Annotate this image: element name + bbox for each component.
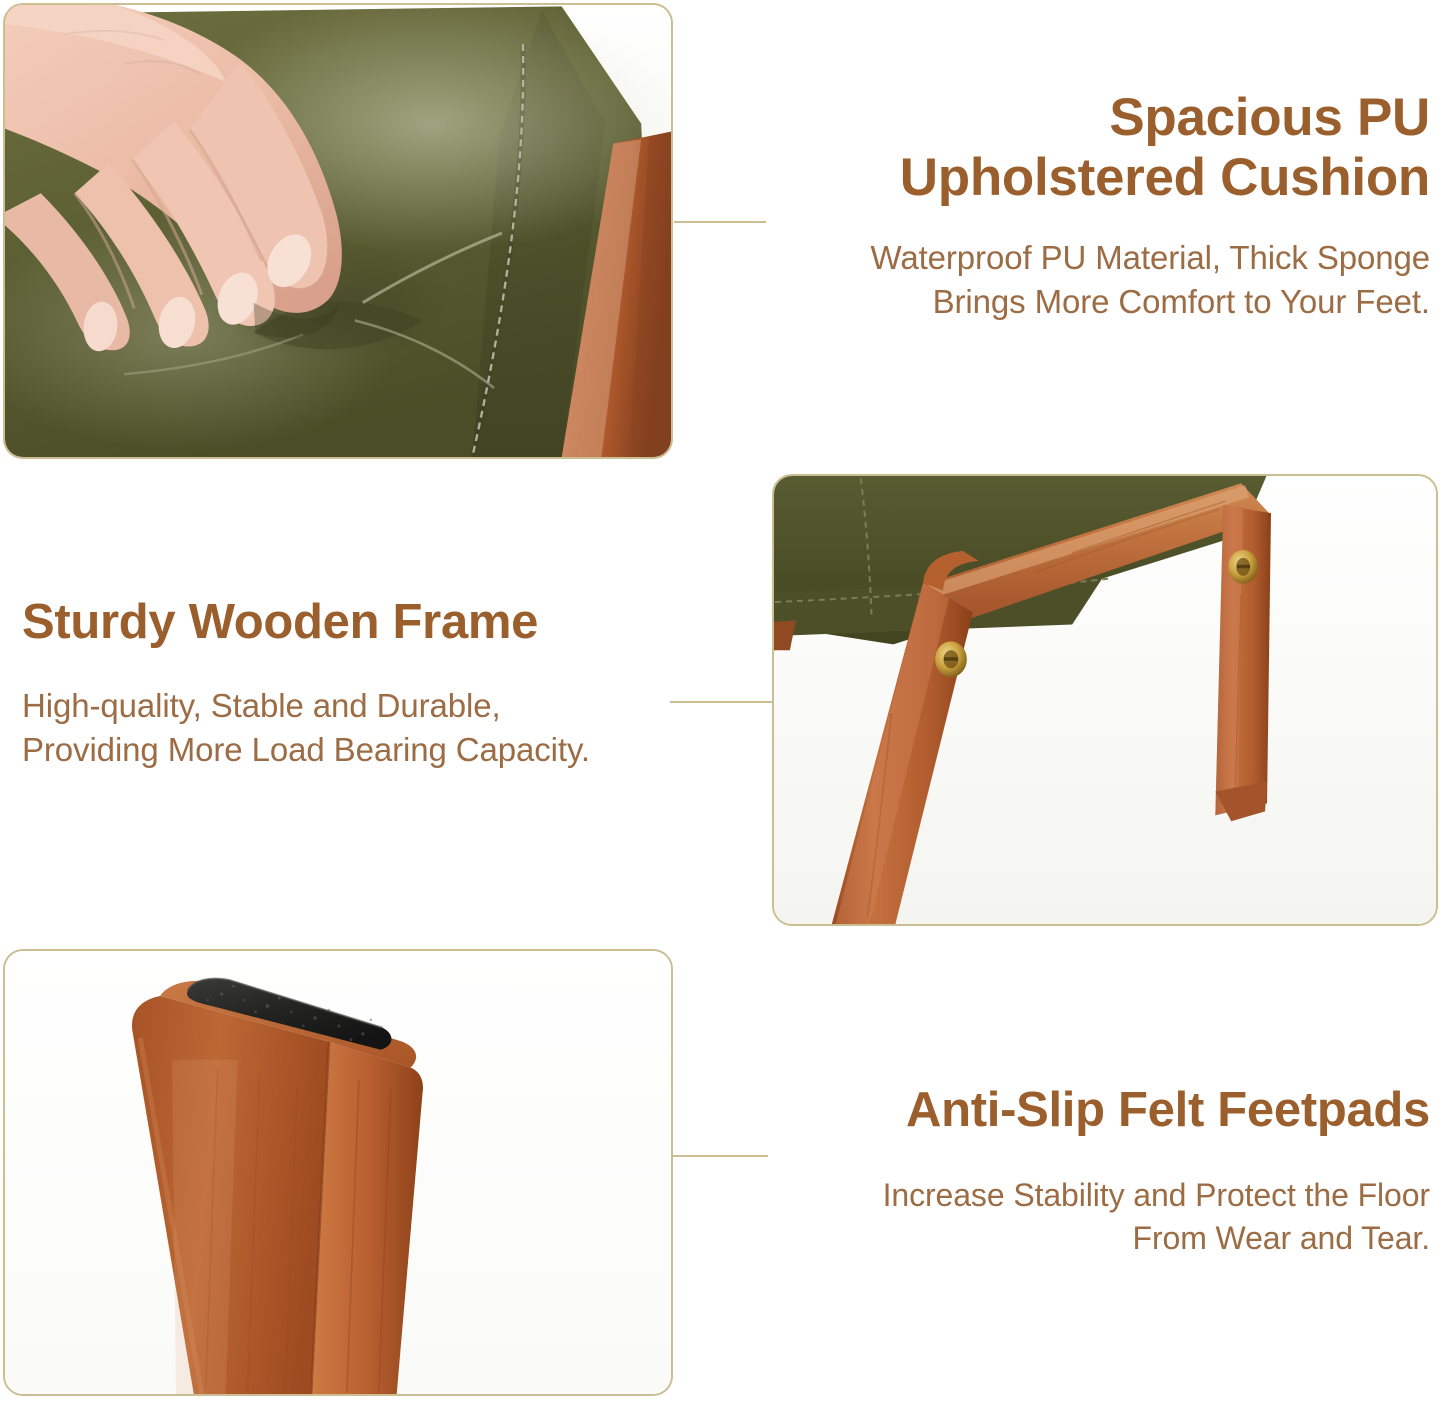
wooden-frame-body: High-quality, Stable and Durable, Provid… (22, 684, 702, 772)
cushion-photo-panel (3, 3, 673, 459)
cushion-body-line1: Waterproof PU Material, Thick Sponge (871, 239, 1430, 276)
cushion-heading-line2: Upholstered Cushion (900, 148, 1430, 207)
brass-screw-upper-right (1228, 550, 1258, 584)
feetpad-photo-panel (3, 949, 673, 1396)
feetpad-body-line2: From Wear and Tear. (1133, 1220, 1431, 1256)
feetpad-body-line1: Increase Stability and Protect the Floor (883, 1177, 1430, 1213)
cushion-connector-line (674, 221, 766, 223)
cushion-heading: Spacious PU Upholstered Cushion (770, 88, 1430, 208)
feetpad-body: Increase Stability and Protect the Floor… (768, 1174, 1430, 1259)
product-feature-infographic: Spacious PU Upholstered Cushion Waterpro… (0, 0, 1445, 1408)
wooden-frame-text-block: Sturdy Wooden Frame High-quality, Stable… (22, 595, 702, 772)
cushion-photo-illustration (5, 5, 671, 457)
wooden-frame-photo-illustration (774, 476, 1436, 924)
feetpad-heading: Anti-Slip Felt Feetpads (768, 1083, 1430, 1138)
wooden-frame-body-line2: Providing More Load Bearing Capacity. (22, 731, 590, 768)
brass-screw-left-leg (935, 641, 967, 677)
cushion-text-block: Spacious PU Upholstered Cushion Waterpro… (770, 88, 1430, 324)
wooden-frame-heading: Sturdy Wooden Frame (22, 595, 702, 650)
cushion-body: Waterproof PU Material, Thick Sponge Bri… (770, 236, 1430, 324)
cushion-heading-line1: Spacious PU (1109, 88, 1430, 147)
cushion-body-line2: Brings More Comfort to Your Feet. (933, 283, 1430, 320)
feetpad-photo-illustration (5, 951, 671, 1394)
wooden-frame-photo-panel (772, 474, 1438, 926)
feetpad-connector-line (672, 1155, 768, 1157)
wooden-frame-body-line1: High-quality, Stable and Durable, (22, 687, 501, 724)
feetpad-text-block: Anti-Slip Felt Feetpads Increase Stabili… (768, 1083, 1430, 1259)
